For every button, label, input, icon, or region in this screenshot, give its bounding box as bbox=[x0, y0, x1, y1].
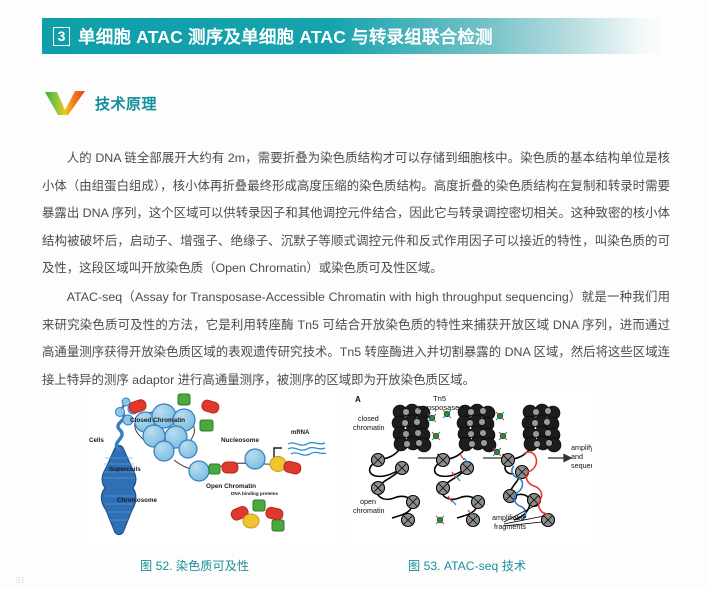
label-closed-chromatin-line2: chromatin bbox=[353, 423, 385, 432]
label-amplifiable-line1: amplifiable bbox=[492, 513, 526, 522]
label-dna-binding-proteins: DNA binding proteins bbox=[231, 491, 278, 496]
body-paragraph-2: ATAC-seq（Assay for Transposase-Accessibl… bbox=[42, 284, 670, 394]
label-amplify-line3: sequence bbox=[571, 461, 592, 470]
label-cells: Cells bbox=[89, 437, 104, 444]
page-number: 91 bbox=[16, 576, 25, 585]
figure-caption-left: 图 52. 染色质可及性 bbox=[140, 556, 249, 574]
page-title: 单细胞 ATAC 测序及单细胞 ATAC 与转录组联合检测 bbox=[78, 24, 493, 49]
section-number-badge: 3 bbox=[53, 27, 70, 46]
label-open-chromatin: Open Chromatin bbox=[206, 483, 256, 490]
label-supercoils: Supercoils bbox=[109, 466, 141, 473]
green-protein bbox=[209, 464, 220, 474]
label-amplifiable-line2: fragments bbox=[494, 522, 526, 531]
figure-chromatin-accessibility: Closed Chromatin Cells Supercoils Chromo… bbox=[88, 392, 336, 544]
figures-row: Closed Chromatin Cells Supercoils Chromo… bbox=[0, 392, 709, 552]
label-panel-a: A bbox=[355, 395, 361, 404]
label-tn5-line2: transposase bbox=[418, 403, 459, 412]
label-open-chromatin-line2: chromatin bbox=[353, 506, 385, 515]
polymerase bbox=[270, 457, 286, 472]
label-amplify-line2: and bbox=[571, 452, 583, 461]
label-tn5-line1: Tn5 bbox=[433, 394, 446, 403]
document-page: 3 单细胞 ATAC 测序及单细胞 ATAC 与转录组联合检测 技术原理 bbox=[0, 0, 709, 589]
figure-atac-seq-workflow: A Tn5 transposase closed chromatin open … bbox=[352, 392, 592, 544]
figure-caption-right: 图 53. ATAC-seq 技术 bbox=[408, 556, 526, 574]
check-mark-icon bbox=[44, 90, 95, 116]
label-nucleosome: Nucleosome bbox=[221, 437, 259, 444]
label-open-chromatin-line1: open bbox=[360, 497, 376, 506]
red-protein bbox=[222, 462, 238, 473]
label-amplify-line1: amplify bbox=[571, 443, 592, 452]
label-closed-chromatin: Closed Chromatin bbox=[130, 417, 185, 424]
section-header-bar: 3 单细胞 ATAC 测序及单细胞 ATAC 与转录组联合检测 bbox=[42, 18, 667, 54]
label-mrna: mRNA bbox=[291, 430, 310, 436]
subsection-heading: 技术原理 bbox=[44, 90, 157, 116]
body-paragraph-1: 人的 DNA 链全部展开大约有 2m，需要折叠为染色质结构才可以存储到细胞核中。… bbox=[42, 145, 670, 283]
label-chromosome: Chromosome bbox=[117, 497, 157, 504]
subsection-title: 技术原理 bbox=[95, 93, 157, 114]
label-closed-chromatin-line1: closed bbox=[358, 414, 379, 423]
